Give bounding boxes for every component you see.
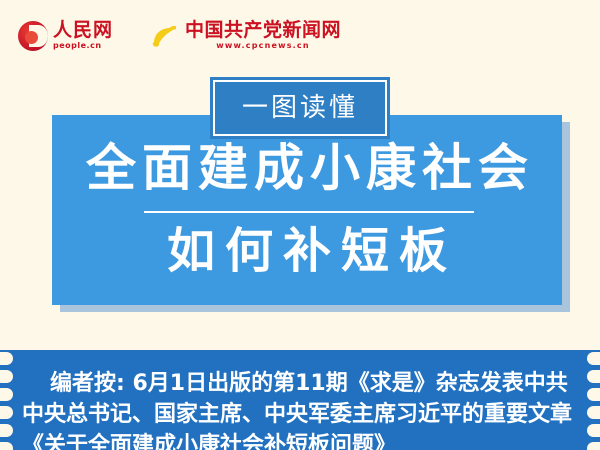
editors-note-text: 编者按: 6月1日出版的第11期《求是》杂志发表中共中央总书记、国家主席、中央军… bbox=[22, 368, 578, 450]
notch-icon bbox=[0, 424, 13, 437]
infographic-badge-label: 一图读懂 bbox=[242, 95, 358, 121]
band-notches-right bbox=[586, 350, 600, 450]
cpcnews-logo-text: 中国共产党新闻网 www.cpcnews.cn bbox=[185, 21, 341, 51]
notch-icon bbox=[587, 442, 600, 450]
people-cn-logo-text: 人民网 people.cn bbox=[53, 21, 113, 51]
people-cn-swoosh-icon bbox=[18, 21, 48, 51]
notch-icon bbox=[587, 424, 600, 437]
notch-icon bbox=[0, 442, 13, 450]
notch-icon bbox=[587, 370, 600, 383]
notch-icon bbox=[0, 406, 13, 419]
cpcnews-logo[interactable]: 中国共产党新闻网 www.cpcnews.cn bbox=[149, 21, 341, 51]
page-title-line-2: 如何补短板 bbox=[52, 227, 562, 275]
cpcnews-url: www.cpcnews.cn bbox=[185, 41, 341, 51]
notch-icon bbox=[587, 388, 600, 401]
notch-icon bbox=[0, 388, 13, 401]
logo-bar: 人民网 people.cn 中国共产党新闻网 www.cpcnews.cn bbox=[0, 0, 600, 72]
editors-note-band: 编者按: 6月1日出版的第11期《求是》杂志发表中共中央总书记、国家主席、中央军… bbox=[0, 350, 600, 450]
hammer-and-sickle-icon bbox=[149, 21, 179, 51]
notch-icon bbox=[0, 352, 13, 365]
notch-icon bbox=[587, 352, 600, 365]
notch-icon bbox=[587, 406, 600, 419]
title-divider bbox=[144, 211, 474, 213]
people-cn-logo[interactable]: 人民网 people.cn bbox=[18, 21, 113, 51]
cpcnews-name: 中国共产党新闻网 bbox=[185, 21, 341, 41]
page-title-line-1: 全面建成小康社会 bbox=[52, 143, 562, 193]
notch-icon bbox=[0, 370, 13, 383]
people-cn-name: 人民网 bbox=[53, 21, 113, 41]
band-notches-left bbox=[0, 350, 14, 450]
title-panel: 全面建成小康社会 如何补短板 bbox=[52, 115, 562, 305]
people-cn-url: people.cn bbox=[53, 41, 113, 51]
infographic-badge-border: 一图读懂 bbox=[213, 80, 387, 136]
infographic-badge: 一图读懂 bbox=[210, 77, 390, 139]
